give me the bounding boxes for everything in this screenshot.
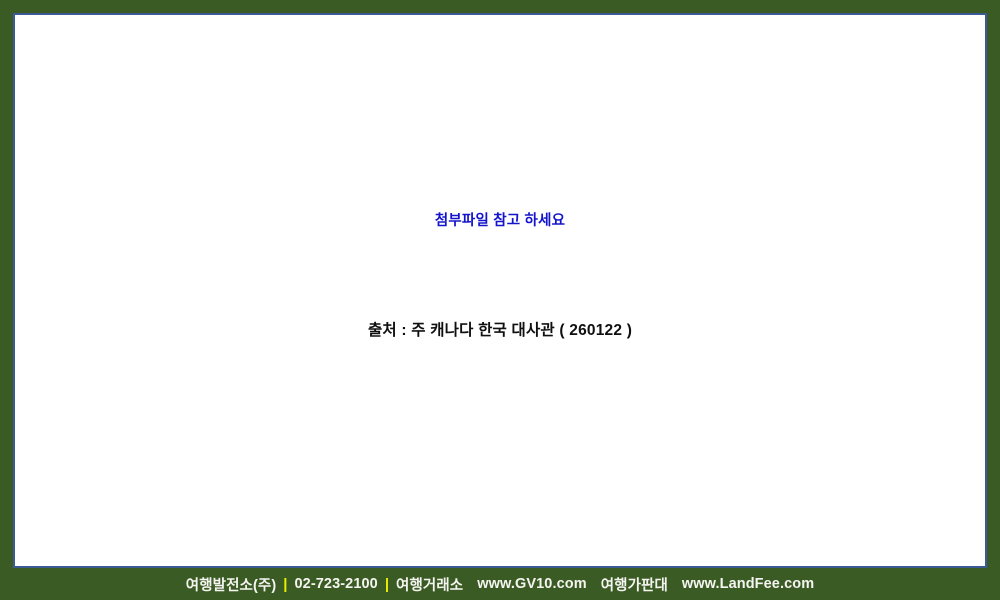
- footer-brand-1-label: 여행거래소: [396, 574, 463, 595]
- footer-company-name: 여행발전소(주): [186, 574, 277, 595]
- footer-phone-number: 02-723-2100: [295, 576, 378, 592]
- footer-brand-2-url[interactable]: www.LandFee.com: [682, 576, 814, 592]
- document-body: 첨부파일 참고 하세요 출처 : 주 캐나다 한국 대사관 ( 260122 ): [13, 13, 987, 566]
- source-attribution-text: 출처 : 주 캐나다 한국 대사관 ( 260122 ): [15, 321, 985, 341]
- footer-bar: 여행발전소(주) | 02-723-2100 | 여행거래소 www.GV10.…: [0, 568, 1000, 600]
- page-frame: 첨부파일 참고 하세요 출처 : 주 캐나다 한국 대사관 ( 260122 )…: [0, 0, 1000, 600]
- content-stack: 첨부파일 참고 하세요 출처 : 주 캐나다 한국 대사관 ( 260122 ): [15, 15, 985, 341]
- footer-brand-2-label: 여행가판대: [601, 574, 668, 595]
- footer-brand-1-url[interactable]: www.GV10.com: [477, 576, 586, 592]
- attachment-notice-text: 첨부파일 참고 하세요: [15, 211, 985, 231]
- footer-separator-2: |: [378, 576, 396, 593]
- footer-separator-1: |: [276, 576, 294, 593]
